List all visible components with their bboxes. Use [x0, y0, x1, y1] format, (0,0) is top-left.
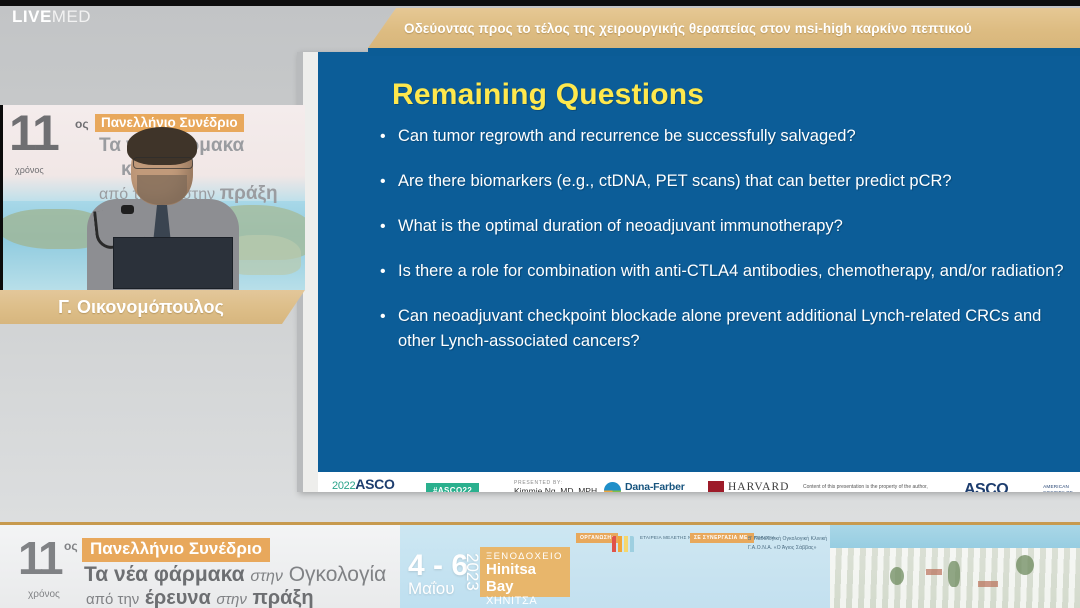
speaker-glasses [133, 157, 193, 169]
bullet-marker-icon: • [380, 169, 398, 194]
slide-disclaimer-text: Content of this presentation is the prop… [803, 484, 943, 492]
venue-photo-roof [978, 581, 998, 587]
banner-tagline-2-italic: στην [216, 591, 246, 608]
banner-organizers-block: ΟΡΓΑΝΩΣΗ: ΕΤΑΙΡΕΙΑ ΜΕΛΕΤΗΣ ΝΕΩΝ ΦΑΡΜΑΚΩΝ… [570, 525, 830, 608]
banner-tagline-line-1: Τα νέα φάρμακα στην Ογκολογία [84, 563, 386, 587]
asco-society-sub-1: AMERICAN SOCIETY OF [1043, 484, 1080, 492]
bullet-marker-icon: • [380, 124, 398, 149]
harvard-logo: HARVARD MEDICAL SCHOOL [708, 481, 789, 492]
microphone-head [121, 205, 134, 214]
banner-tagline-2-tail: πράξη [252, 587, 313, 608]
list-item: • Is there a role for combination with a… [380, 259, 1080, 284]
speaker-video-panel[interactable]: 11 ος χρόνος Πανελλήνιο Συνέδριο Τα νέα … [0, 105, 305, 290]
bullet-marker-icon: • [380, 304, 398, 329]
backdrop-edition-number: 11 [9, 111, 58, 156]
banner-edition-ordinal: ος [64, 539, 78, 553]
bullet-text: Is there a role for combination with ant… [398, 259, 1064, 284]
banner-month: Μαΐου [408, 579, 455, 599]
presentation-slide[interactable]: Content of this presentation is the prop… [297, 52, 1080, 492]
conference-banner: 11 ος χρόνος Πανελλήνιο Συνέδριο Τα νέα … [0, 522, 1080, 608]
cooperation-name: Β' Παθολογική Ογκολογική Κλινική Γ.Α.Ο.Ν… [748, 535, 830, 552]
banner-identity-block: 11 ος χρόνος Πανελλήνιο Συνέδριο Τα νέα … [0, 525, 400, 608]
banner-venue-photo [830, 525, 1080, 608]
asco-annual-meeting-logo: 2022ASCO ANNUAL MEETING [332, 477, 417, 492]
cooperation-label: ΣΕ ΣΥΝΕΡΓΑΣΙΑ ΜΕ: [690, 533, 754, 543]
slide-title: Remaining Questions [392, 78, 704, 112]
livemed-logo: LIVEMED [12, 7, 91, 27]
bullet-text: Can neoadjuvant checkpoint blockade alon… [398, 304, 1080, 354]
banner-edition-number: 11 [18, 535, 61, 581]
header-blue-strip [368, 48, 1080, 56]
asco-society-left: ASCO KNOWLEDGE CONQUERS CANCER [964, 482, 1039, 492]
livemed-logo-light: MED [52, 7, 91, 26]
venue-photo-tree [1016, 555, 1034, 575]
harvard-name: HARVARD [728, 481, 789, 492]
asco-hashtag-badge: #ASCO22 [426, 483, 479, 492]
banner-tagline-2-bold: έρευνα [145, 587, 211, 608]
asco-society-subtitle: AMERICAN SOCIETY OF CLINICAL ONCOLOGY [1043, 484, 1080, 492]
banner-date-venue-block: 4 - 6 Μαΐου 2023 ΞΕΝΟΔΟΧΕΙΟ Hinitsa Bay … [400, 525, 570, 608]
backdrop-years-label: χρόνος [15, 165, 44, 175]
asco-year: 2022 [332, 480, 355, 492]
presented-by-block: PRESENTED BY: Kimmie Ng, MD, MPH [514, 480, 597, 492]
banner-congress-label: Πανελλήνιο Συνέδριο [82, 538, 270, 562]
bullet-text: Are there biomarkers (e.g., ctDNA, PET s… [398, 169, 952, 194]
asco-wordmark: ASCO [355, 476, 394, 492]
harvard-shield-icon [708, 481, 724, 492]
banner-venue-name: Hinitsa Bay [486, 562, 564, 595]
banner-tagline-1-italic: στην [250, 568, 283, 585]
bullet-marker-icon: • [380, 214, 398, 239]
bullet-text: Can tumor regrowth and recurrence be suc… [398, 124, 856, 149]
bullet-marker-icon: • [380, 259, 398, 284]
list-item: • Can neoadjuvant checkpoint blockade al… [380, 304, 1080, 354]
bullet-text: What is the optimal duration of neoadjuv… [398, 214, 843, 239]
broadcast-screen: LIVEMED Οδεύοντας προς το τέλος της χειρ… [0, 0, 1080, 608]
backdrop-edition-ordinal: ος [75, 117, 89, 131]
slide-bullet-list: • Can tumor regrowth and recurrence be s… [380, 124, 1080, 374]
asco-society-wordmark: ASCO [964, 482, 1039, 492]
banner-years-label: χρόνος [28, 589, 60, 600]
speaker-video-frame: 11 ος χρόνος Πανελλήνιο Συνέδριο Τα νέα … [3, 105, 305, 290]
slide-footer-bar: 2022ASCO ANNUAL MEETING #ASCO22 PRESENTE… [318, 472, 1080, 492]
top-edge-strip [0, 0, 1080, 6]
livemed-logo-bold: LIVE [12, 7, 52, 26]
page-title: Οδεύοντας προς το τέλος της χειρουργικής… [404, 21, 1074, 36]
presenter-name: Kimmie Ng, MD, MPH [514, 486, 597, 492]
dana-farber-logo: Dana-Farber Cancer Institute [604, 481, 685, 492]
venue-photo-cypress [948, 561, 960, 587]
list-item: • What is the optimal duration of neoadj… [380, 214, 1080, 239]
speaker-beard [137, 175, 187, 205]
dana-farber-text: Dana-Farber Cancer Institute [625, 481, 685, 492]
dana-farber-mark-icon [604, 482, 621, 493]
list-item: • Can tumor regrowth and recurrence be s… [380, 124, 1080, 149]
venue-photo-tree [890, 567, 904, 585]
list-item: • Are there biomarkers (e.g., ctDNA, PET… [380, 169, 1080, 194]
backdrop-line-4-bold: πράξη [220, 183, 278, 204]
dana-farber-name: Dana-Farber [625, 481, 685, 492]
harvard-text: HARVARD MEDICAL SCHOOL [728, 481, 789, 492]
banner-tagline-1-bold: Τα νέα φάρμακα [84, 563, 245, 586]
venue-photo-roof [926, 569, 942, 575]
banner-year: 2023 [462, 553, 482, 591]
banner-tagline-line-2: από την έρευνα στην πράξη [86, 587, 314, 608]
banner-tagline-2-lead: από την [86, 591, 139, 608]
banner-tagline-1-tail: Ογκολογία [289, 563, 387, 586]
slide-body: Remaining Questions • Can tumor regrowth… [318, 52, 1080, 472]
laptop [113, 237, 233, 289]
speaker-name: Γ. Οικονομόπουλος [0, 290, 282, 324]
banner-date: 4 - 6 [408, 551, 468, 581]
asco-logo-line-1: 2022ASCO [332, 477, 417, 492]
banner-venue-card: ΞΕΝΟΔΟΧΕΙΟ Hinitsa Bay ΧΗΝΙΤΣΑ [480, 547, 570, 597]
organizer-logo-icon [612, 536, 634, 552]
asco-society-logo: ASCO KNOWLEDGE CONQUERS CANCER AMERICAN … [964, 482, 1080, 492]
banner-venue-place: ΧΗΝΙΤΣΑ [486, 595, 564, 607]
